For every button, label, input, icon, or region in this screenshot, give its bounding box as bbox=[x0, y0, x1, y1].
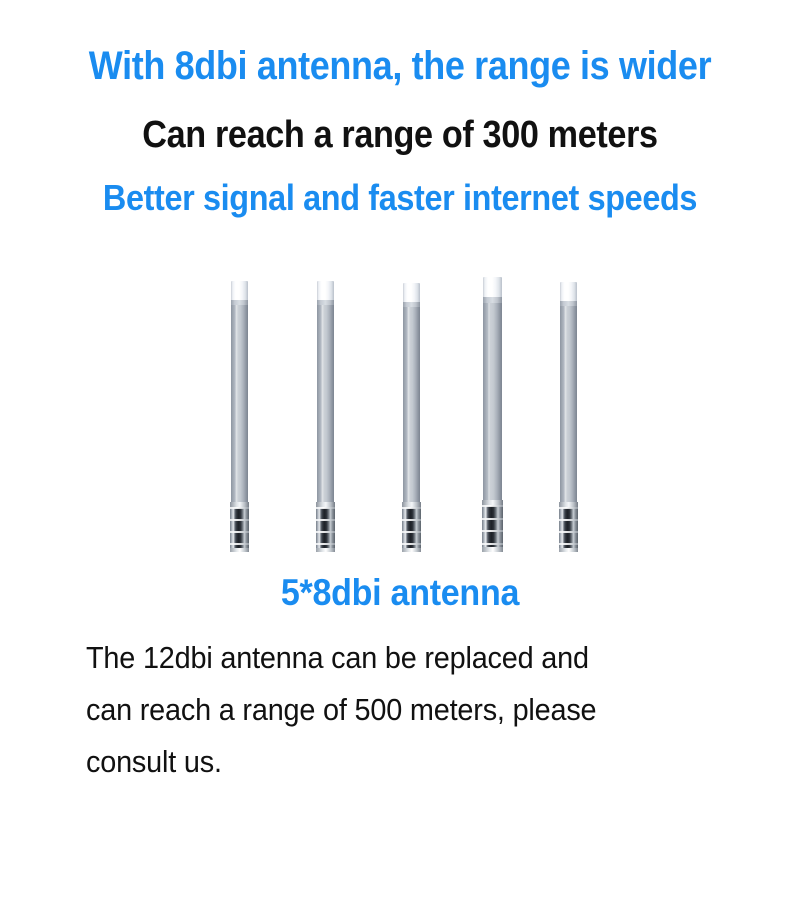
connector-ring bbox=[559, 519, 578, 521]
antenna-body bbox=[231, 305, 248, 502]
connector-foot bbox=[230, 548, 249, 553]
antenna-cap bbox=[483, 277, 502, 303]
connector-ring bbox=[482, 530, 503, 532]
connector-ring bbox=[482, 518, 503, 520]
connector-ring bbox=[559, 507, 578, 509]
antenna-body bbox=[317, 305, 334, 502]
connector-ring bbox=[230, 531, 249, 533]
antenna-connector bbox=[230, 502, 249, 552]
antenna-5 bbox=[560, 282, 577, 552]
antenna-cap bbox=[560, 282, 577, 306]
antenna-cap bbox=[317, 281, 334, 305]
promo-page: With 8dbi antenna, the range is wider Ca… bbox=[0, 0, 800, 900]
headline-tertiary: Better signal and faster internet speeds bbox=[40, 178, 760, 218]
description-line: can reach a range of 500 meters, please bbox=[86, 684, 681, 736]
description-line: consult us. bbox=[86, 736, 681, 788]
connector-foot bbox=[316, 548, 335, 553]
headline-secondary: Can reach a range of 300 meters bbox=[40, 114, 760, 156]
antenna-cap bbox=[403, 283, 420, 307]
description-paragraph: The 12dbi antenna can be replaced and ca… bbox=[86, 632, 726, 788]
connector-ring bbox=[316, 519, 335, 521]
connector-ring bbox=[482, 543, 503, 545]
headline-primary: With 8dbi antenna, the range is wider bbox=[40, 44, 760, 88]
antenna-1 bbox=[231, 281, 248, 552]
connector-foot bbox=[559, 548, 578, 553]
antenna-connector bbox=[559, 502, 578, 552]
connector-ring bbox=[559, 531, 578, 533]
connector-ring bbox=[230, 507, 249, 509]
headline-block: With 8dbi antenna, the range is wider Ca… bbox=[0, 0, 800, 218]
connector-ring bbox=[402, 519, 421, 521]
connector-foot bbox=[482, 547, 503, 552]
antenna-body bbox=[483, 303, 502, 500]
antenna-connector bbox=[482, 500, 503, 552]
connector-ring bbox=[402, 507, 421, 509]
antenna-2 bbox=[317, 281, 334, 552]
product-caption: 5*8dbi antenna bbox=[32, 572, 768, 614]
antenna-3 bbox=[403, 283, 420, 552]
antenna-connector bbox=[316, 502, 335, 552]
antenna-product-image bbox=[0, 258, 800, 568]
description-line: The 12dbi antenna can be replaced and bbox=[86, 632, 681, 684]
antenna-4 bbox=[483, 277, 502, 552]
connector-foot bbox=[402, 548, 421, 553]
antenna-body bbox=[560, 306, 577, 502]
antenna-body bbox=[403, 307, 420, 502]
connector-ring bbox=[230, 519, 249, 521]
connector-ring bbox=[482, 505, 503, 507]
connector-ring bbox=[316, 507, 335, 509]
connector-ring bbox=[402, 531, 421, 533]
connector-ring bbox=[402, 543, 421, 545]
connector-ring bbox=[316, 543, 335, 545]
connector-ring bbox=[559, 543, 578, 545]
connector-ring bbox=[316, 531, 335, 533]
antenna-connector bbox=[402, 502, 421, 552]
connector-ring bbox=[230, 543, 249, 545]
antenna-cap bbox=[231, 281, 248, 305]
